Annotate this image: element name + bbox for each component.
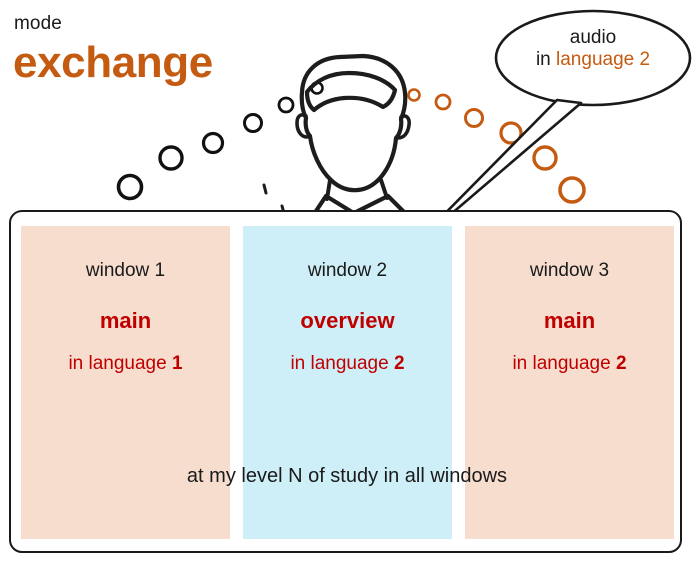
window-3-language: in language 2 [465, 354, 674, 373]
window-column-3[interactable]: window 3 main in language 2 [465, 226, 674, 539]
panel-footnote: at my level N of study in all windows [0, 466, 694, 486]
window-2-label: window 2 [243, 261, 452, 280]
window-2-language-number: 2 [394, 353, 405, 374]
window-2-language-prefix: in language [290, 353, 394, 374]
mode-title: exchange [13, 41, 213, 85]
window-3-language-prefix: in language [512, 353, 616, 374]
bubble-highlight: language 2 [556, 49, 650, 70]
window-2-language: in language 2 [243, 354, 452, 373]
mode-label: mode [14, 14, 62, 33]
window-1-language: in language 1 [21, 354, 230, 373]
window-3-language-number: 2 [616, 353, 627, 374]
window-column-1[interactable]: window 1 main in language 1 [21, 226, 230, 539]
black-circle-arc-icon [119, 83, 323, 199]
bubble-prefix: in [536, 49, 556, 70]
bubble-line-audio: audio [497, 27, 689, 49]
bubble-line-language: in language 2 [497, 49, 689, 71]
orange-circle-arc-icon [409, 90, 585, 203]
window-1-mode: main [21, 310, 230, 332]
window-2-mode: overview [243, 310, 452, 332]
window-3-mode: main [465, 310, 674, 332]
diagram-canvas: mode exchange [0, 0, 694, 564]
window-1-label: window 1 [21, 261, 230, 280]
windows-columns: window 1 main in language 1 window 2 ove… [21, 226, 674, 539]
window-3-label: window 3 [465, 261, 674, 280]
window-column-2[interactable]: window 2 overview in language 2 [243, 226, 452, 539]
window-1-language-number: 1 [172, 353, 183, 374]
speech-bubble-text: audio in language 2 [497, 27, 689, 72]
windows-panel: window 1 main in language 1 window 2 ove… [9, 210, 682, 553]
window-1-language-prefix: in language [68, 353, 172, 374]
